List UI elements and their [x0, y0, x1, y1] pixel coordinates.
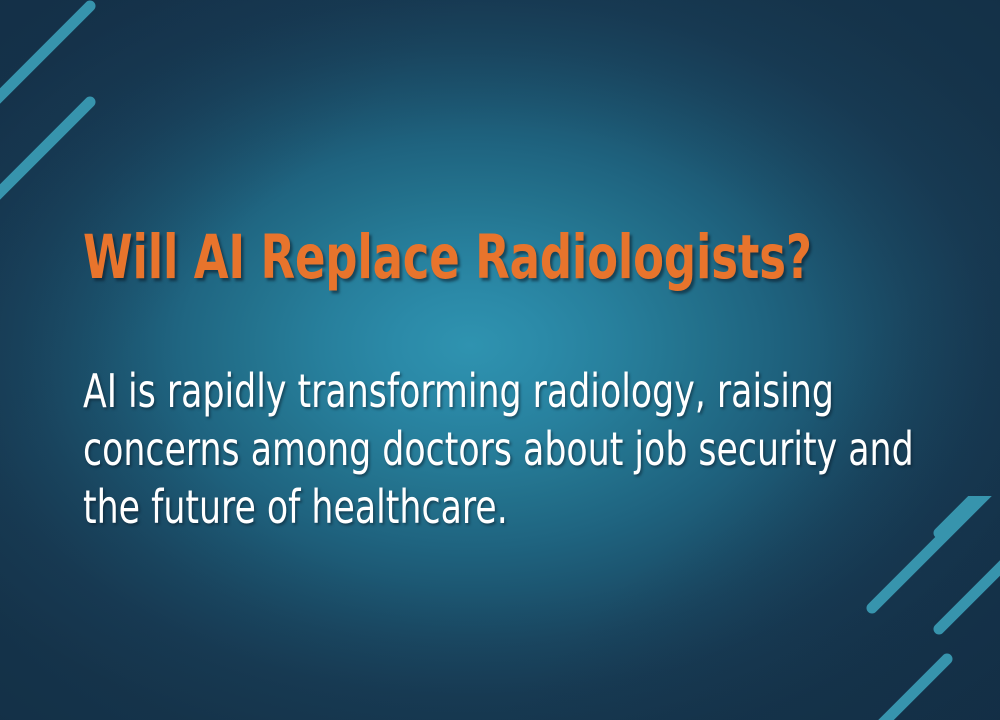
- body-line-2: concerns among doctors about job securit…: [83, 420, 973, 478]
- slide-content: Will AI Replace Radiologists? AI is rapi…: [83, 226, 973, 536]
- diagonal-stripes-top-left: [0, 0, 224, 224]
- body-line-3: the future of healthcare.: [83, 478, 973, 536]
- slide-canvas: Will AI Replace Radiologists? AI is rapi…: [0, 0, 1000, 720]
- slide-body-text: AI is rapidly transforming radiology, ra…: [83, 362, 973, 536]
- stripes-top-left-icon: [0, 0, 224, 224]
- page-title: Will AI Replace Radiologists?: [83, 226, 813, 290]
- body-line-1: AI is rapidly transforming radiology, ra…: [83, 362, 973, 420]
